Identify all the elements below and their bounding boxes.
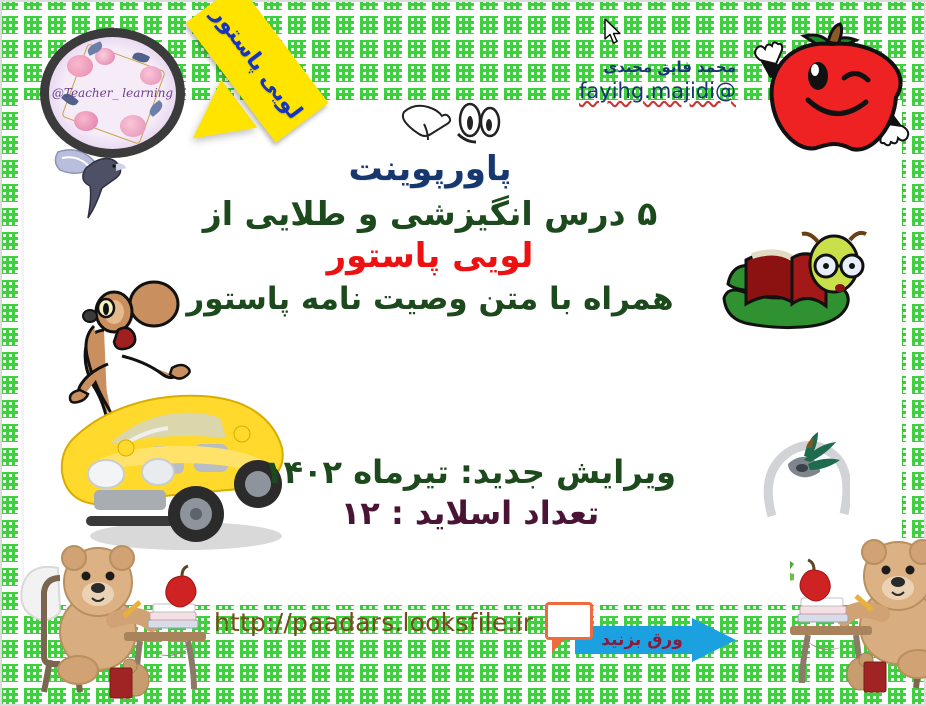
next-slide-arrow[interactable]: ورق بزنید [575, 620, 735, 660]
dove-with-olive-branch-icon [758, 420, 850, 525]
author-email: fayihg.majidi@ [579, 78, 736, 104]
pointing-hand-and-eyes [398, 96, 508, 150]
companion-line: همراه با متن وصیت نامه پاستور [120, 279, 740, 319]
speech-bubble-icon [545, 602, 593, 640]
author-block: محمد فایق مجیدی fayihg.majidi@ [579, 58, 736, 104]
teddy-bear-at-desk-left [6, 520, 206, 700]
author-name: محمد فایق مجیدی [579, 58, 736, 78]
slide-count-text: تعداد اسلاید : ۱۲ [210, 493, 730, 534]
website-url[interactable]: http://paadars.looksfile.ir [214, 608, 533, 637]
rose-icon [67, 55, 93, 77]
teddy-bear-at-desk-right [790, 512, 926, 700]
logo-handle-text: @Teacher_ learning [49, 86, 176, 100]
teacher-learning-logo: @Teacher_ learning [40, 28, 185, 158]
subtitle-line: ۵ درس انگیزشی و طلایی از [120, 193, 740, 234]
edition-text: ویرایش جدید: تیرماه ۱۴۰۲ [210, 452, 730, 493]
next-slide-label: ورق بزنید [583, 626, 701, 654]
winking-apple-icon [752, 14, 912, 164]
headings-block: پاورپوینت ۵ درس انگیزشی و طلایی از لویی … [120, 150, 740, 319]
mouse-cursor [604, 18, 624, 50]
meta-block: ویرایش جدید: تیرماه ۱۴۰۲ تعداد اسلاید : … [210, 452, 730, 534]
subject-name: لویی پاستور [120, 234, 740, 278]
